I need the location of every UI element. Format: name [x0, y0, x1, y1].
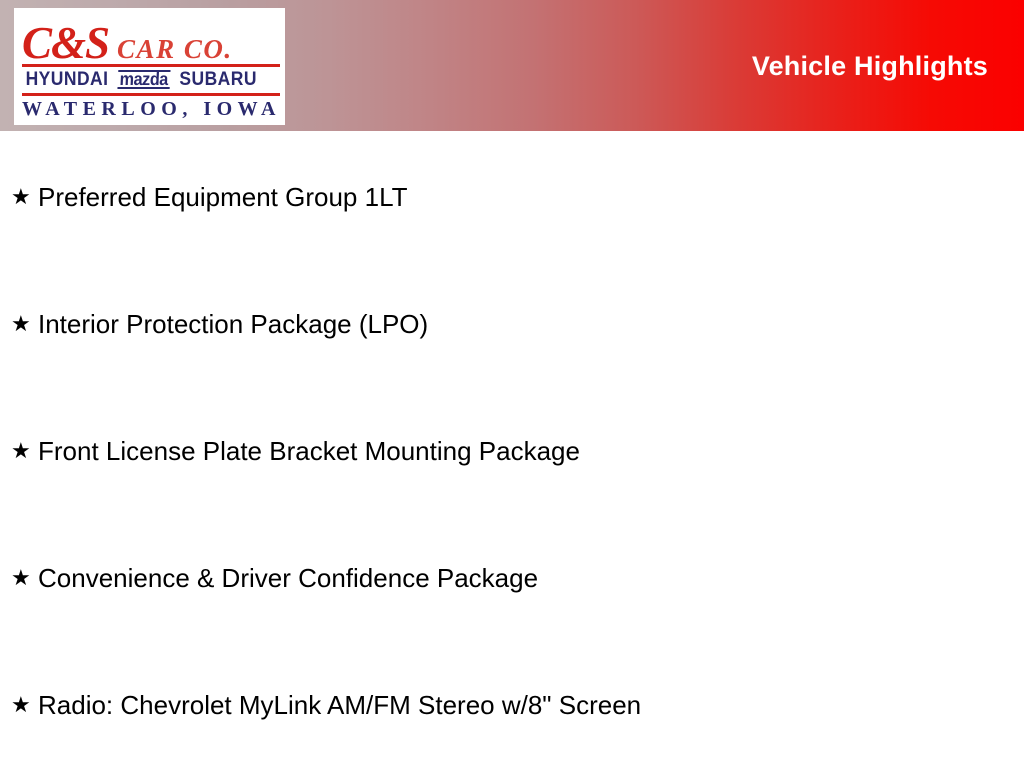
logo-make-subaru: SUBARU	[179, 69, 257, 91]
list-item-label: Convenience & Driver Confidence Package	[38, 564, 538, 594]
logo-makes-line: HYUNDAImazdaSUBARU	[22, 69, 280, 91]
logo-company-suffix: CAR CO.	[117, 34, 233, 64]
logo-artwork: C&SCAR CO. HYUNDAImazdaSUBARU WATERLOO, …	[14, 8, 285, 125]
list-item-label: Front License Plate Bracket Mounting Pac…	[38, 437, 580, 467]
list-item-label: Interior Protection Package (LPO)	[38, 310, 428, 340]
star-icon: ★	[11, 314, 38, 336]
logo-rule-top	[22, 64, 280, 67]
list-item: ★ Convenience & Driver Confidence Packag…	[0, 559, 1024, 599]
logo-title-line: C&SCAR CO.	[22, 17, 280, 63]
logo-rule-bottom	[22, 93, 280, 96]
star-icon: ★	[11, 568, 38, 590]
list-item: ★ Radio: Chevrolet MyLink AM/FM Stereo w…	[0, 686, 1024, 726]
star-icon: ★	[11, 695, 38, 717]
list-item: ★ Interior Protection Package (LPO)	[0, 305, 1024, 345]
logo-make-hyundai: HYUNDAI	[26, 69, 109, 91]
logo-make-mazda: mazda	[117, 70, 170, 89]
vehicle-highlights-slide: C&SCAR CO. HYUNDAImazdaSUBARU WATERLOO, …	[0, 0, 1024, 768]
list-item-label: Preferred Equipment Group 1LT	[38, 183, 407, 213]
logo-location: WATERLOO, IOWA	[22, 98, 280, 122]
list-item: ★ Front License Plate Bracket Mounting P…	[0, 432, 1024, 472]
star-icon: ★	[11, 187, 38, 209]
page-title: Vehicle Highlights	[752, 51, 988, 82]
dealership-logo: C&SCAR CO. HYUNDAImazdaSUBARU WATERLOO, …	[14, 8, 285, 125]
logo-brand-name: C&S	[22, 18, 109, 68]
star-icon: ★	[11, 441, 38, 463]
slide-header-banner: C&SCAR CO. HYUNDAImazdaSUBARU WATERLOO, …	[0, 0, 1024, 131]
vehicle-highlights-list: ★ Preferred Equipment Group 1LT ★ Interi…	[0, 131, 1024, 768]
list-item: ★ Preferred Equipment Group 1LT	[0, 178, 1024, 218]
list-item-label: Radio: Chevrolet MyLink AM/FM Stereo w/8…	[38, 691, 641, 721]
